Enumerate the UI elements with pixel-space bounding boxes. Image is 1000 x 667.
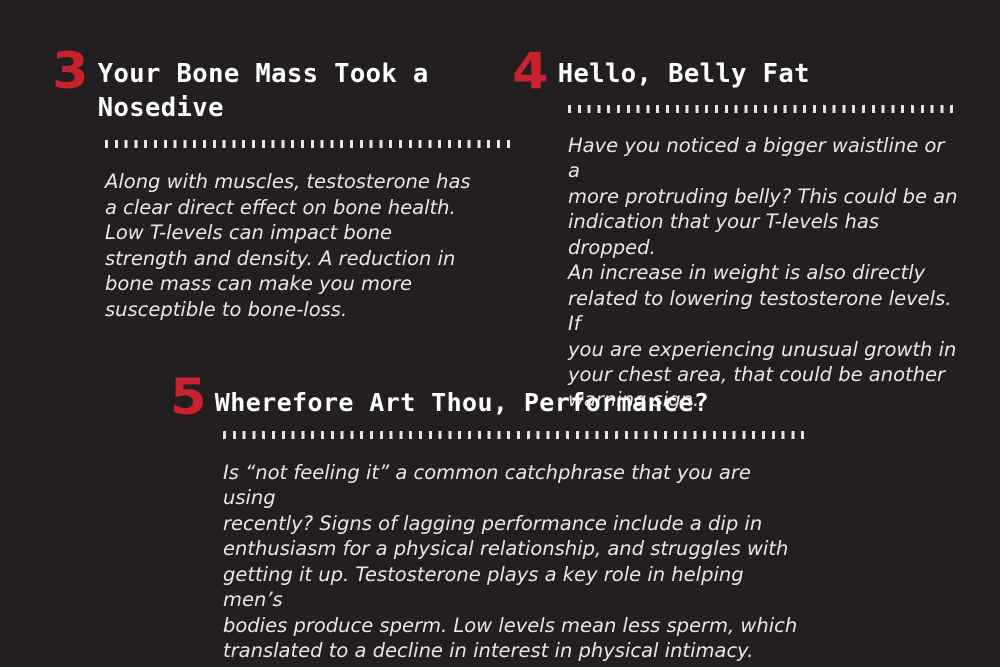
section-number: 4 [512,50,547,93]
section-performance: 5 Wherefore Art Thou, Performance? Is “n… [170,378,830,664]
dotted-divider [223,431,806,439]
section-title: Wherefore Art Thou, Performance? [215,378,830,419]
infographic-canvas: 3 Your Bone Mass Took a Nosedive Along w… [0,0,1000,667]
section-title: Hello, Belly Fat [558,52,962,92]
dotted-divider [105,140,511,148]
section-belly-fat: 4 Hello, Belly Fat Have you noticed a bi… [512,52,962,413]
section-body-text: Along with muscles, testosterone has a c… [105,169,485,322]
section-number: 3 [52,50,87,93]
section-heading: 3 Your Bone Mass Took a Nosedive [52,52,472,125]
section-heading: 4 Hello, Belly Fat [512,52,962,93]
section-body-text: Have you noticed a bigger waistline or a… [568,133,960,413]
section-title: Your Bone Mass Took a Nosedive [98,52,472,125]
section-heading: 5 Wherefore Art Thou, Performance? [170,378,830,419]
section-number: 5 [170,376,205,419]
section-bone-mass: 3 Your Bone Mass Took a Nosedive Along w… [52,52,472,322]
dotted-divider [568,105,958,113]
section-body-text: Is “not feeling it” a common catchphrase… [223,460,803,664]
